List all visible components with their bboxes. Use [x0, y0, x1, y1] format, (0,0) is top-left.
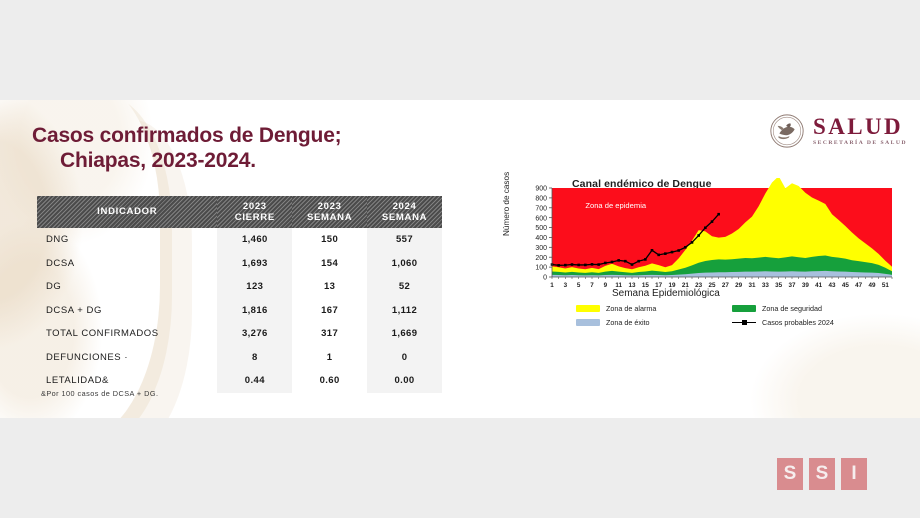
- cell-indicator: DEFUNCIONES ·: [37, 346, 217, 370]
- cell-semana-2023: 317: [292, 322, 367, 346]
- svg-text:800: 800: [535, 195, 547, 202]
- svg-text:100: 100: [535, 265, 547, 272]
- legend-item-alarma: Zona de alarma: [576, 304, 720, 313]
- cell-cierre-2023: 123: [217, 275, 292, 299]
- indicators-table: INDICADOR 2023 CIERRE 2023 SEMANA 2024 S…: [37, 196, 442, 393]
- legend-item-casos-probables: Casos probables 2024: [732, 318, 876, 327]
- table-head: INDICADOR 2023 CIERRE 2023 SEMANA 2024 S…: [37, 196, 442, 228]
- table-body: DNG 1,460 150 557 DCSA 1,693 154 1,060 D…: [37, 228, 442, 393]
- letterbox-top: [0, 0, 920, 100]
- cell-indicator: DG: [37, 275, 217, 299]
- cell-indicator: DNG: [37, 228, 217, 252]
- legend-swatch-alarma: [576, 305, 600, 312]
- cell-indicator: TOTAL CONFIRMADOS: [37, 322, 217, 346]
- svg-text:400: 400: [535, 235, 547, 242]
- svg-text:41: 41: [815, 282, 823, 289]
- svg-text:900: 900: [535, 186, 547, 193]
- legend-label: Zona de alarma: [606, 304, 656, 313]
- cell-semana-2024: 1,669: [367, 322, 442, 346]
- svg-text:47: 47: [855, 282, 863, 289]
- column-header-semana-2024: 2024 SEMANA: [367, 196, 442, 228]
- title-line-1: Casos confirmados de Dengue;: [32, 124, 341, 147]
- cell-semana-2023: 167: [292, 299, 367, 323]
- svg-text:5: 5: [577, 282, 581, 289]
- slide: Casos confirmados de Dengue; Chiapas, 20…: [0, 100, 920, 418]
- cell-semana-2023: 1: [292, 346, 367, 370]
- svg-text:39: 39: [802, 282, 810, 289]
- mexican-eagle-emblem-icon: [770, 114, 804, 148]
- svg-text:300: 300: [535, 245, 547, 252]
- cell-semana-2024: 1,112: [367, 299, 442, 323]
- chart-plot: 0100200300400500600700800900135791113151…: [500, 178, 900, 303]
- salud-logo: SALUD SECRETARÍA DE SALUD: [770, 114, 907, 148]
- svg-text:29: 29: [735, 282, 743, 289]
- cell-cierre-2023: 8: [217, 346, 292, 370]
- svg-text:200: 200: [535, 255, 547, 262]
- svg-text:51: 51: [882, 282, 890, 289]
- table-row: DNG 1,460 150 557: [37, 228, 442, 252]
- ssi-letter: S: [809, 458, 835, 490]
- legend-swatch-exito: [576, 319, 600, 326]
- cell-semana-2023: 0.60: [292, 369, 367, 393]
- svg-text:31: 31: [748, 282, 756, 289]
- svg-text:49: 49: [868, 282, 876, 289]
- svg-text:35: 35: [775, 282, 783, 289]
- table-row: DCSA 1,693 154 1,060: [37, 252, 442, 276]
- svg-text:37: 37: [788, 282, 796, 289]
- page-title: Casos confirmados de Dengue; Chiapas, 20…: [32, 124, 452, 174]
- cell-indicator: DCSA: [37, 252, 217, 276]
- endemic-channel-chart: Canal endémico de Dengue Número de casos…: [500, 178, 900, 408]
- cell-semana-2024: 1,060: [367, 252, 442, 276]
- legend-swatch-seguridad: [732, 305, 756, 312]
- svg-text:43: 43: [828, 282, 836, 289]
- svg-text:600: 600: [535, 215, 547, 222]
- cell-semana-2023: 13: [292, 275, 367, 299]
- svg-text:3: 3: [564, 282, 568, 289]
- svg-text:500: 500: [535, 225, 547, 232]
- cell-indicator: DCSA + DG: [37, 299, 217, 323]
- chart-legend: Zona de alarma Zona de seguridad Zona de…: [576, 304, 876, 327]
- table-footnote: &Por 100 casos de DCSA + DG.: [41, 389, 158, 398]
- svg-text:27: 27: [722, 282, 730, 289]
- column-header-semana-2023: 2023 SEMANA: [292, 196, 367, 228]
- ssi-watermark: S S I: [777, 458, 867, 490]
- screenshot-root: Casos confirmados de Dengue; Chiapas, 20…: [0, 0, 920, 518]
- salud-logo-text: SALUD SECRETARÍA DE SALUD: [813, 115, 907, 147]
- legend-label: Casos probables 2024: [762, 318, 834, 327]
- cell-cierre-2023: 3,276: [217, 322, 292, 346]
- salud-logo-subtitle: SECRETARÍA DE SALUD: [813, 141, 907, 147]
- title-line-2: Chiapas, 2023-2024.: [32, 149, 452, 174]
- cell-semana-2023: 150: [292, 228, 367, 252]
- svg-text:1: 1: [550, 282, 554, 289]
- table-row: DG 123 13 52: [37, 275, 442, 299]
- table-row: DCSA + DG 1,816 167 1,112: [37, 299, 442, 323]
- svg-text:7: 7: [590, 282, 594, 289]
- cell-semana-2024: 0: [367, 346, 442, 370]
- ssi-letter: S: [777, 458, 803, 490]
- cell-cierre-2023: 1,816: [217, 299, 292, 323]
- cell-cierre-2023: 1,693: [217, 252, 292, 276]
- svg-text:Zona de epidemia: Zona de epidemia: [585, 201, 647, 210]
- cell-semana-2024: 52: [367, 275, 442, 299]
- column-header-cierre-2023: 2023 CIERRE: [217, 196, 292, 228]
- svg-text:33: 33: [762, 282, 770, 289]
- table-row: TOTAL CONFIRMADOS 3,276 317 1,669: [37, 322, 442, 346]
- legend-item-seguridad: Zona de seguridad: [732, 304, 876, 313]
- legend-label: Zona de seguridad: [762, 304, 822, 313]
- svg-text:9: 9: [604, 282, 608, 289]
- legend-label: Zona de éxito: [606, 318, 650, 327]
- cell-semana-2024: 557: [367, 228, 442, 252]
- cell-semana-2023: 154: [292, 252, 367, 276]
- cell-cierre-2023: 1,460: [217, 228, 292, 252]
- svg-text:0: 0: [543, 275, 547, 282]
- ssi-letter: I: [841, 458, 867, 490]
- legend-item-exito: Zona de éxito: [576, 318, 720, 327]
- legend-swatch-casos-probables: [732, 319, 756, 326]
- table-header-row: INDICADOR 2023 CIERRE 2023 SEMANA 2024 S…: [37, 196, 442, 228]
- cell-semana-2024: 0.00: [367, 369, 442, 393]
- svg-text:700: 700: [535, 205, 547, 212]
- salud-logo-title: SALUD: [813, 115, 907, 138]
- table-row: DEFUNCIONES · 8 1 0: [37, 346, 442, 370]
- chart-x-axis-label: Semana Epidemiológica: [612, 288, 720, 299]
- cell-cierre-2023: 0.44: [217, 369, 292, 393]
- svg-text:45: 45: [842, 282, 850, 289]
- column-header-indicador: INDICADOR: [37, 196, 217, 228]
